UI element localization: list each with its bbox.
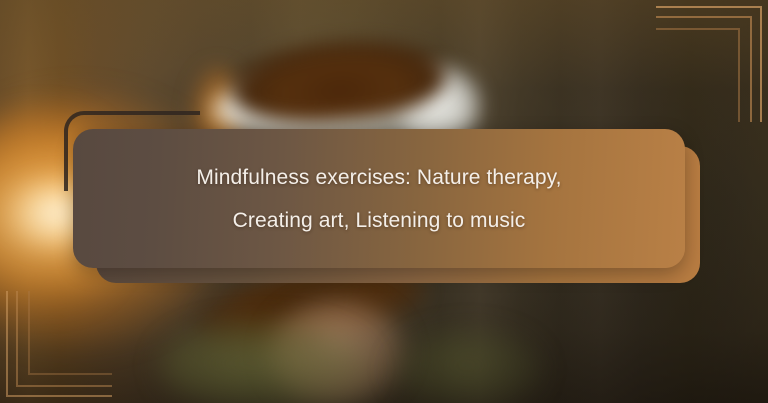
quote-card: Mindfulness exercises: Nature therapy, C…	[73, 129, 685, 268]
frame-line-inner	[656, 28, 740, 122]
frame-line-outer	[656, 6, 762, 122]
frame-corner-top-right-icon	[658, 0, 768, 120]
quote-text-line-1: Mindfulness exercises: Nature therapy,	[196, 167, 561, 188]
quote-text-line-2: Creating art, Listening to music	[233, 210, 526, 231]
person-garment-left	[160, 322, 370, 403]
quote-card-canvas: Mindfulness exercises: Nature therapy, C…	[0, 0, 768, 403]
person-garment-right	[392, 330, 542, 403]
frame-line-middle	[656, 16, 752, 122]
